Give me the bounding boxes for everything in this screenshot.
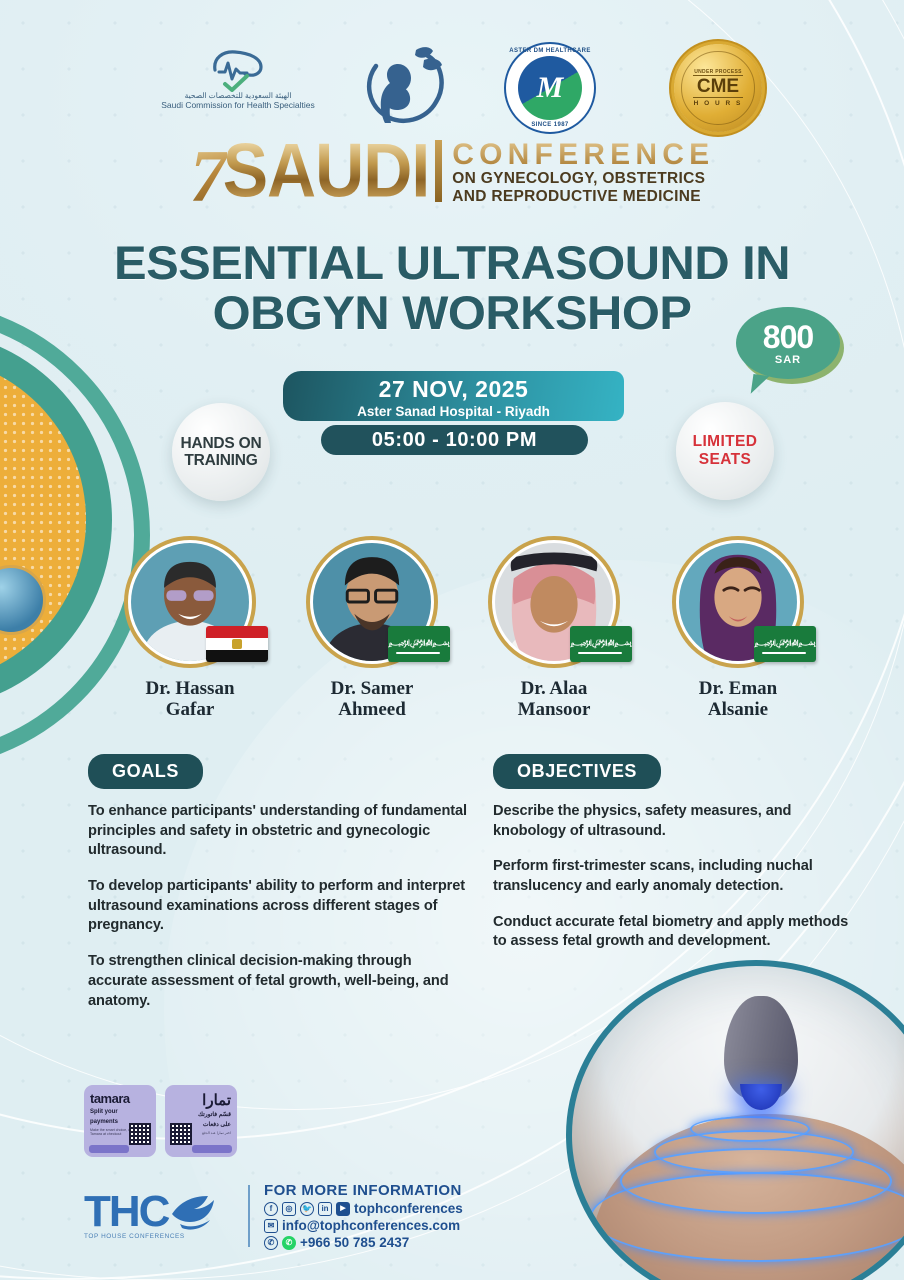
ordinal-suffix: th: [209, 132, 223, 148]
tamara-qr-code-arabic[interactable]: [170, 1123, 192, 1145]
saudi-flag-sword: [396, 652, 440, 654]
brand-subtitle-line2: AND REPRODUCTIVE MEDICINE: [452, 188, 714, 206]
thc-logo[interactable]: THC TOP HOUSE CONFERENCES: [84, 1192, 234, 1241]
speaker-name: Dr. Samer Ahmeed: [278, 678, 466, 721]
conference-poster: الهيئة السعودية للتخصصات الصحية Saudi Co…: [0, 0, 904, 1280]
objectives-item: Perform first-trimester scans, including…: [493, 857, 853, 896]
limited-seats-line-2: SEATS: [693, 451, 758, 469]
objectives-title: OBJECTIVES: [493, 754, 661, 789]
contact-phone[interactable]: +966 50 785 2437: [300, 1235, 409, 1250]
speaker-name: Dr. Eman Alsanie: [644, 678, 832, 721]
contact-heading: FOR MORE INFORMATION: [264, 1182, 463, 1199]
social-handle[interactable]: tophconferences: [354, 1201, 463, 1216]
saudi-flag-shahada: ﷽: [754, 638, 815, 651]
speaker-first-name: Dr. Hassan: [96, 678, 284, 699]
speaker-first-name: Dr. Alaa: [460, 678, 648, 699]
limited-seats-line-1: LIMITED: [693, 433, 758, 451]
envelope-icon: ✉: [264, 1219, 278, 1233]
conference-brand-title: th 7 SAUDI CONFERENCE ON GYNECOLOGY, OBS…: [0, 136, 904, 220]
goals-item: To enhance participants' understanding o…: [88, 802, 468, 861]
event-date-banner: 27 NOV, 2025 Aster Sanad Hospital - Riya…: [283, 371, 624, 421]
goals-item: To develop participants' ability to perf…: [88, 877, 468, 936]
email-row: ✉ info@tophconferences.com: [264, 1218, 463, 1233]
speaker-photo-frame: [124, 536, 256, 668]
brand-saudi-word: SAUDI: [223, 136, 430, 206]
goals-title: GOALS: [88, 754, 203, 789]
speaker-first-name: Dr. Samer: [278, 678, 466, 699]
pregnant-woman-leaf-icon: [358, 42, 454, 136]
limited-seats-badge: LIMITED SEATS: [676, 402, 774, 500]
headline-line-1: ESSENTIAL ULTRASOUND IN: [0, 238, 904, 288]
brand-conference-word: CONFERENCE: [452, 140, 714, 170]
hands-on-training-badge: HANDS ON TRAINING: [172, 403, 270, 501]
edition-ordinal: th 7: [190, 142, 227, 212]
thc-logo-subtitle: TOP HOUSE CONFERENCES: [84, 1233, 234, 1240]
tamara-tagline-line-1: Split your: [90, 1109, 150, 1116]
speaker-name: Dr. Hassan Gafar: [96, 678, 284, 721]
speaker-last-name: Ahmeed: [278, 699, 466, 720]
facebook-icon[interactable]: f: [264, 1202, 278, 1216]
speaker-card: Dr. Hassan Gafar: [96, 536, 284, 721]
goals-section: GOALS To enhance participants' understan…: [88, 754, 468, 1027]
scfhs-emblem-icon: [209, 48, 267, 92]
conference-logo: [352, 42, 460, 141]
saudi-flag-shahada: ﷽: [388, 638, 449, 651]
speaker-last-name: Mansoor: [460, 699, 648, 720]
objectives-section: OBJECTIVES Describe the physics, safety …: [493, 754, 853, 968]
brand-divider-bar: [435, 140, 442, 202]
limited-seats-text: LIMITED SEATS: [693, 433, 758, 468]
aster-monogram: M: [518, 56, 582, 120]
speaker-card: ﷽ Dr. Alaa Mansoor: [460, 536, 648, 721]
thc-logo-letters: THC: [84, 1192, 168, 1232]
goals-item: To strengthen clinical decision-making t…: [88, 952, 468, 1011]
aster-top-text: ASTER DM HEALTHCARE: [506, 48, 594, 54]
tamara-brand: tamara: [90, 1091, 150, 1106]
whatsapp-icon[interactable]: ✆: [282, 1236, 296, 1250]
price-badge: 800 SAR: [736, 307, 840, 379]
cme-seal-badge: UNDER PROCESS CME H O U R S: [674, 44, 762, 132]
tamara-qr-code[interactable]: [129, 1123, 151, 1145]
linkedin-icon[interactable]: in: [318, 1202, 332, 1216]
hands-on-line-2: TRAINING: [180, 452, 261, 469]
tamara-cta-button[interactable]: [89, 1145, 129, 1153]
phone-icon: ✆: [264, 1236, 278, 1250]
speaker-photo-frame: ﷽: [488, 536, 620, 668]
speaker-photo-frame: ﷽: [306, 536, 438, 668]
tamara-payment-badges[interactable]: tamara Split your payments Make the smar…: [84, 1085, 237, 1157]
event-date: 27 NOV, 2025: [283, 376, 624, 403]
aster-logo-circle: ASTER DM HEALTHCARE M SINCE 1987: [504, 42, 596, 134]
cme-seal: UNDER PROCESS CME H O U R S: [672, 44, 764, 132]
aster-bottom-text: SINCE 1987: [506, 122, 594, 128]
speaker-first-name: Dr. Eman: [644, 678, 832, 699]
saudi-arabia-flag-icon: ﷽: [754, 626, 816, 662]
contact-details: FOR MORE INFORMATION f ◎ 🐦 in ▶ tophconf…: [264, 1182, 463, 1250]
instagram-icon[interactable]: ◎: [282, 1202, 296, 1216]
ultrasound-scan-photo: [566, 960, 904, 1280]
speaker-photo-frame: ﷽: [672, 536, 804, 668]
saudi-arabia-flag-icon: ﷽: [570, 626, 632, 662]
tamara-brand-arabic: تمارا: [171, 1091, 231, 1109]
saudi-arabia-flag-icon: ﷽: [388, 626, 450, 662]
saudi-flag-sword: [578, 652, 622, 654]
brand-subtitle-line1: ON GYNECOLOGY, OBSTETRICS: [452, 170, 714, 188]
objectives-item: Describe the physics, safety measures, a…: [493, 802, 853, 841]
event-venue: Aster Sanad Hospital - Riyadh: [283, 404, 624, 419]
hands-on-training-text: HANDS ON TRAINING: [180, 435, 261, 470]
tamara-cta-button-arabic[interactable]: [192, 1145, 232, 1153]
speaker-name: Dr. Alaa Mansoor: [460, 678, 648, 721]
saudi-flag-sword: [762, 652, 806, 654]
hands-on-line-1: HANDS ON: [180, 435, 261, 452]
twitter-icon[interactable]: 🐦: [300, 1202, 314, 1216]
speaker-card: ﷽ Dr. Samer Ahmeed: [278, 536, 466, 721]
speakers-row: Dr. Hassan Gafar: [0, 536, 904, 736]
phone-row: ✆ ✆ +966 50 785 2437: [264, 1235, 463, 1250]
tamara-badge-arabic[interactable]: تمارا قسّم فاتورتك على دفعات اختر تمارا …: [165, 1085, 237, 1157]
saudi-commission-logo: الهيئة السعودية للتخصصات الصحية Saudi Co…: [150, 48, 326, 110]
egypt-flag-icon: [206, 626, 268, 662]
youtube-icon[interactable]: ▶: [336, 1202, 350, 1216]
footer-divider: [248, 1185, 250, 1247]
thc-bird-icon: [170, 1194, 216, 1230]
scfhs-name-english: Saudi Commission for Health Specialties: [150, 101, 326, 111]
ultrasound-wave-ring: [690, 1116, 810, 1142]
speaker-last-name: Alsanie: [644, 699, 832, 720]
tamara-tagline-ar-line-1: قسّم فاتورتك: [171, 1112, 231, 1119]
saudi-flag-shahada: ﷽: [570, 638, 631, 651]
cme-seal-ring: [681, 51, 755, 125]
objectives-item: Conduct accurate fetal biometry and appl…: [493, 913, 853, 952]
aster-dm-healthcare-logo: ASTER DM HEALTHCARE M SINCE 1987: [497, 42, 603, 134]
contact-email[interactable]: info@tophconferences.com: [282, 1218, 460, 1233]
speaker-card: ﷽ Dr. Eman Alsanie: [644, 536, 832, 721]
event-time: 05:00 - 10:00 PM: [321, 425, 588, 455]
footer-contact-bar: THC TOP HOUSE CONFERENCES FOR MORE INFOR…: [84, 1182, 463, 1250]
tamara-badge-english[interactable]: tamara Split your payments Make the smar…: [84, 1085, 156, 1157]
ultrasound-probe-tip: [740, 1084, 782, 1110]
price-currency: SAR: [775, 354, 801, 366]
social-row: f ◎ 🐦 in ▶ tophconferences: [264, 1201, 463, 1216]
speaker-last-name: Gafar: [96, 699, 284, 720]
price-amount: 800: [763, 321, 813, 353]
